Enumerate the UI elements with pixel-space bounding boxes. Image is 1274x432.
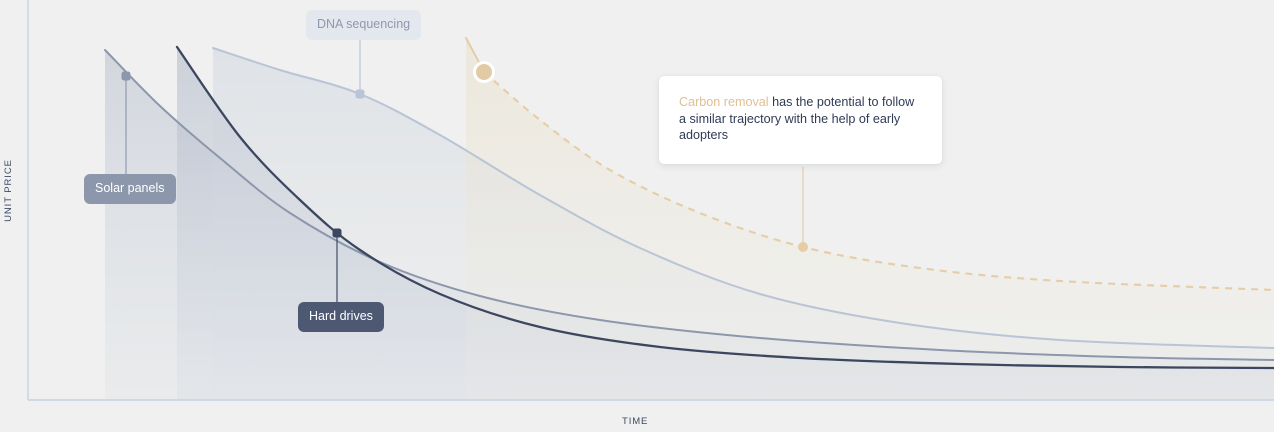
experience-curve-chart: UNIT PRICE TIME DNA sequencing Solar pan… — [0, 0, 1274, 432]
x-axis-title: TIME — [622, 416, 648, 427]
callout-highlight-term: Carbon removal — [679, 95, 769, 109]
marker-dna-sequencing[interactable] — [356, 90, 365, 99]
callout-text: Carbon removal has the potential to foll… — [679, 94, 922, 144]
marker-solar-panels[interactable] — [122, 72, 131, 81]
carbon-removal-callout[interactable]: Carbon removal has the potential to foll… — [659, 76, 942, 164]
marker-hard-drives[interactable] — [333, 229, 342, 238]
chart-canvas — [0, 0, 1274, 432]
y-axis-title: UNIT PRICE — [3, 159, 14, 222]
marker-carbon-removal[interactable] — [476, 64, 492, 80]
series-label-dna-sequencing[interactable]: DNA sequencing — [306, 10, 421, 40]
series-label-hard-drives[interactable]: Hard drives — [298, 302, 384, 332]
series-label-solar-panels[interactable]: Solar panels — [84, 174, 176, 204]
marker-dot-carbon-removal[interactable] — [798, 242, 808, 252]
